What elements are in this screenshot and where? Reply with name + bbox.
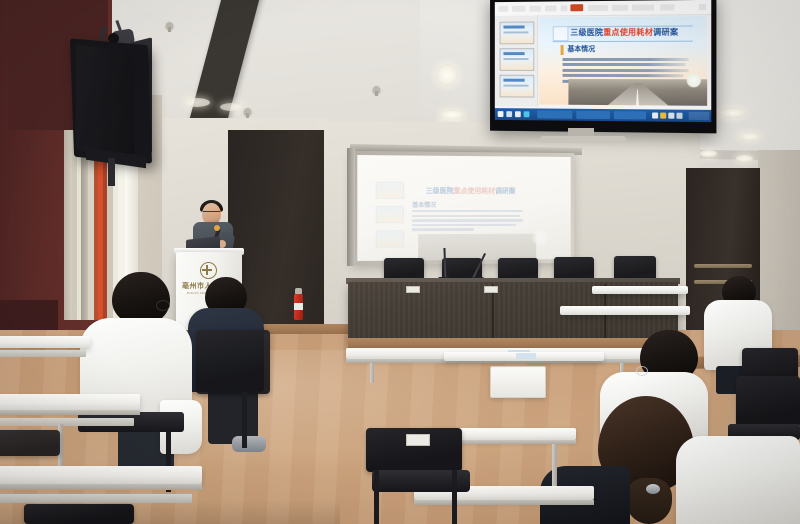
- loudspeaker-pole: [108, 158, 115, 186]
- extinguisher-label: [294, 303, 303, 310]
- sun-glow-icon: [687, 73, 701, 87]
- ceiling-light: [736, 155, 753, 162]
- os-taskbar[interactable]: [495, 108, 711, 122]
- slide-title-part-1: 三级医院: [570, 28, 603, 37]
- ceiling-light: [436, 64, 458, 86]
- chair-leg: [242, 392, 247, 448]
- platform-step: [348, 338, 684, 348]
- thumbnail-body-line: [503, 85, 528, 87]
- presentation-app-window[interactable]: 三级医院重点使用耗材调研案 基本情况: [495, 0, 711, 122]
- desk-tablet-pad: [516, 353, 536, 359]
- start-icon[interactable]: [498, 111, 504, 117]
- audience-chair[interactable]: [0, 430, 60, 456]
- tray-icon[interactable]: [660, 113, 666, 119]
- student-desk: [592, 286, 688, 294]
- ribbon-tab[interactable]: [632, 4, 654, 10]
- slide-body-line: [563, 69, 689, 72]
- taskbar-window-button[interactable]: [576, 111, 610, 119]
- projected-body-line: [412, 210, 523, 212]
- tv-stand-base: [540, 136, 626, 143]
- chair-label: [406, 434, 430, 446]
- folder-icon[interactable]: [515, 111, 521, 117]
- projected-thumbnail: [376, 230, 404, 247]
- panel-nameplate: [406, 286, 420, 293]
- student-desk: [0, 466, 202, 484]
- slide-body-line: [563, 58, 689, 61]
- ribbon-tab[interactable]: [588, 5, 608, 11]
- projected-body-line: [412, 219, 523, 222]
- projected-title-part-1: 三级医院: [426, 188, 454, 195]
- audience-shoe: [232, 436, 266, 452]
- settings-icon[interactable]: [506, 111, 512, 117]
- projected-body-line: [412, 228, 473, 231]
- desk-leg: [552, 444, 557, 486]
- projected-section-heading: 基本情况: [412, 200, 436, 209]
- desk-shelf: [0, 418, 134, 426]
- hair-tie: [646, 484, 660, 494]
- sprinkler-head: [244, 108, 251, 115]
- floor-shadow: [0, 500, 340, 524]
- student-desk: [560, 306, 690, 315]
- desk-leg: [370, 363, 374, 383]
- ceiling-light: [184, 98, 210, 107]
- ribbon-tab[interactable]: [660, 4, 674, 10]
- audience-head: [112, 272, 170, 324]
- tray-icon[interactable]: [668, 113, 674, 119]
- ribbon-tab[interactable]: [512, 6, 525, 12]
- ribbon-tab[interactable]: [545, 5, 557, 11]
- audience-chair[interactable]: [196, 330, 270, 394]
- tray-icon[interactable]: [652, 112, 658, 118]
- loudspeaker-grille: [76, 44, 134, 158]
- projected-slide-title: 三级医院重点使用耗材调研案: [408, 188, 532, 196]
- desk-edge: [0, 410, 140, 415]
- tray-icon[interactable]: [676, 113, 682, 119]
- student-desk: [0, 336, 90, 348]
- ceiling-light: [220, 103, 244, 111]
- desk-edge: [0, 484, 202, 490]
- thumbnail-title-line: [503, 79, 524, 82]
- thumbnail-body-line: [503, 58, 528, 60]
- projected-body-line: [412, 224, 516, 227]
- eyeglasses-icon: [156, 300, 170, 311]
- chair-leg: [452, 470, 457, 524]
- thumbnail-body-line: [503, 31, 528, 33]
- projection-screen-left-frame: [347, 148, 355, 266]
- close-icon[interactable]: [699, 4, 706, 10]
- slide-body-line: [563, 63, 687, 66]
- slide-thumbnail-panel[interactable]: [495, 16, 538, 107]
- white-coat: [676, 436, 800, 524]
- browser-icon[interactable]: [524, 111, 530, 117]
- projector-box: [490, 366, 546, 398]
- projected-sun-glow: [532, 230, 547, 246]
- slide-title-part-2: 重点使用耗材: [603, 28, 653, 37]
- ceiling-light: [718, 108, 746, 118]
- slide-body-line: [563, 74, 684, 77]
- projected-body-line: [412, 215, 519, 218]
- door-handle[interactable]: [694, 264, 752, 268]
- active-slide[interactable]: 三级医院重点使用耗材调研案 基本情况: [539, 16, 707, 106]
- conference-room-photo: 三级医院重点使用耗材调研案 基本情况: [0, 0, 800, 524]
- projected-title-part-3: 调研案: [495, 188, 515, 195]
- eyeglasses-icon: [636, 366, 648, 376]
- eyeglasses-icon: [203, 211, 220, 216]
- chair-leg: [374, 470, 379, 524]
- taskbar-window-button[interactable]: [537, 110, 572, 118]
- app-ribbon[interactable]: [495, 0, 711, 17]
- tv-screen[interactable]: 三级医院重点使用耗材调研案 基本情况: [495, 0, 711, 122]
- slide-title: 三级医院重点使用耗材调研案: [559, 26, 691, 39]
- taskbar-window-button[interactable]: [614, 111, 646, 119]
- blind-slat: [64, 130, 72, 320]
- ceiling-light: [739, 132, 761, 141]
- slide-section-heading: 基本情况: [561, 45, 595, 55]
- thumbnail-title-line: [503, 52, 524, 55]
- projected-title-part-2: 重点使用耗材: [454, 188, 495, 195]
- app-logo-icon: [570, 4, 583, 11]
- desk-edge: [414, 500, 594, 505]
- ceiling-light: [700, 150, 717, 157]
- sprinkler-head: [166, 22, 173, 29]
- projected-thumbnail: [376, 182, 404, 199]
- thumbnail-title-line: [503, 25, 524, 28]
- audience-chair[interactable]: [736, 376, 800, 428]
- panel-nameplate: [484, 286, 498, 293]
- projection-screen: 三级医院重点使用耗材调研案 基本情况: [357, 155, 570, 261]
- slide-title-part-3: 调研案: [653, 28, 678, 37]
- ribbon-tab[interactable]: [612, 5, 628, 11]
- projected-thumbnail: [376, 206, 404, 223]
- sprinkler-head: [373, 86, 380, 93]
- ceiling-light: [440, 110, 464, 119]
- projected-body-text: [412, 210, 523, 233]
- projected-photo: [418, 234, 536, 261]
- slide-thumbnail[interactable]: [500, 48, 535, 71]
- microphone-head-icon: [214, 225, 220, 231]
- projected-slide: 三级医院重点使用耗材调研案 基本情况: [370, 163, 560, 255]
- taskbar-clock[interactable]: [689, 112, 710, 120]
- ribbon-tab[interactable]: [529, 6, 541, 12]
- student-desk: [0, 394, 140, 410]
- ribbon-tab[interactable]: [561, 5, 568, 11]
- hospital-cross-icon: [200, 262, 217, 279]
- slide-thumbnail[interactable]: [500, 75, 535, 98]
- desk-shelf: [0, 350, 86, 357]
- slide-thumbnail[interactable]: [500, 21, 535, 44]
- ribbon-tab[interactable]: [499, 6, 509, 12]
